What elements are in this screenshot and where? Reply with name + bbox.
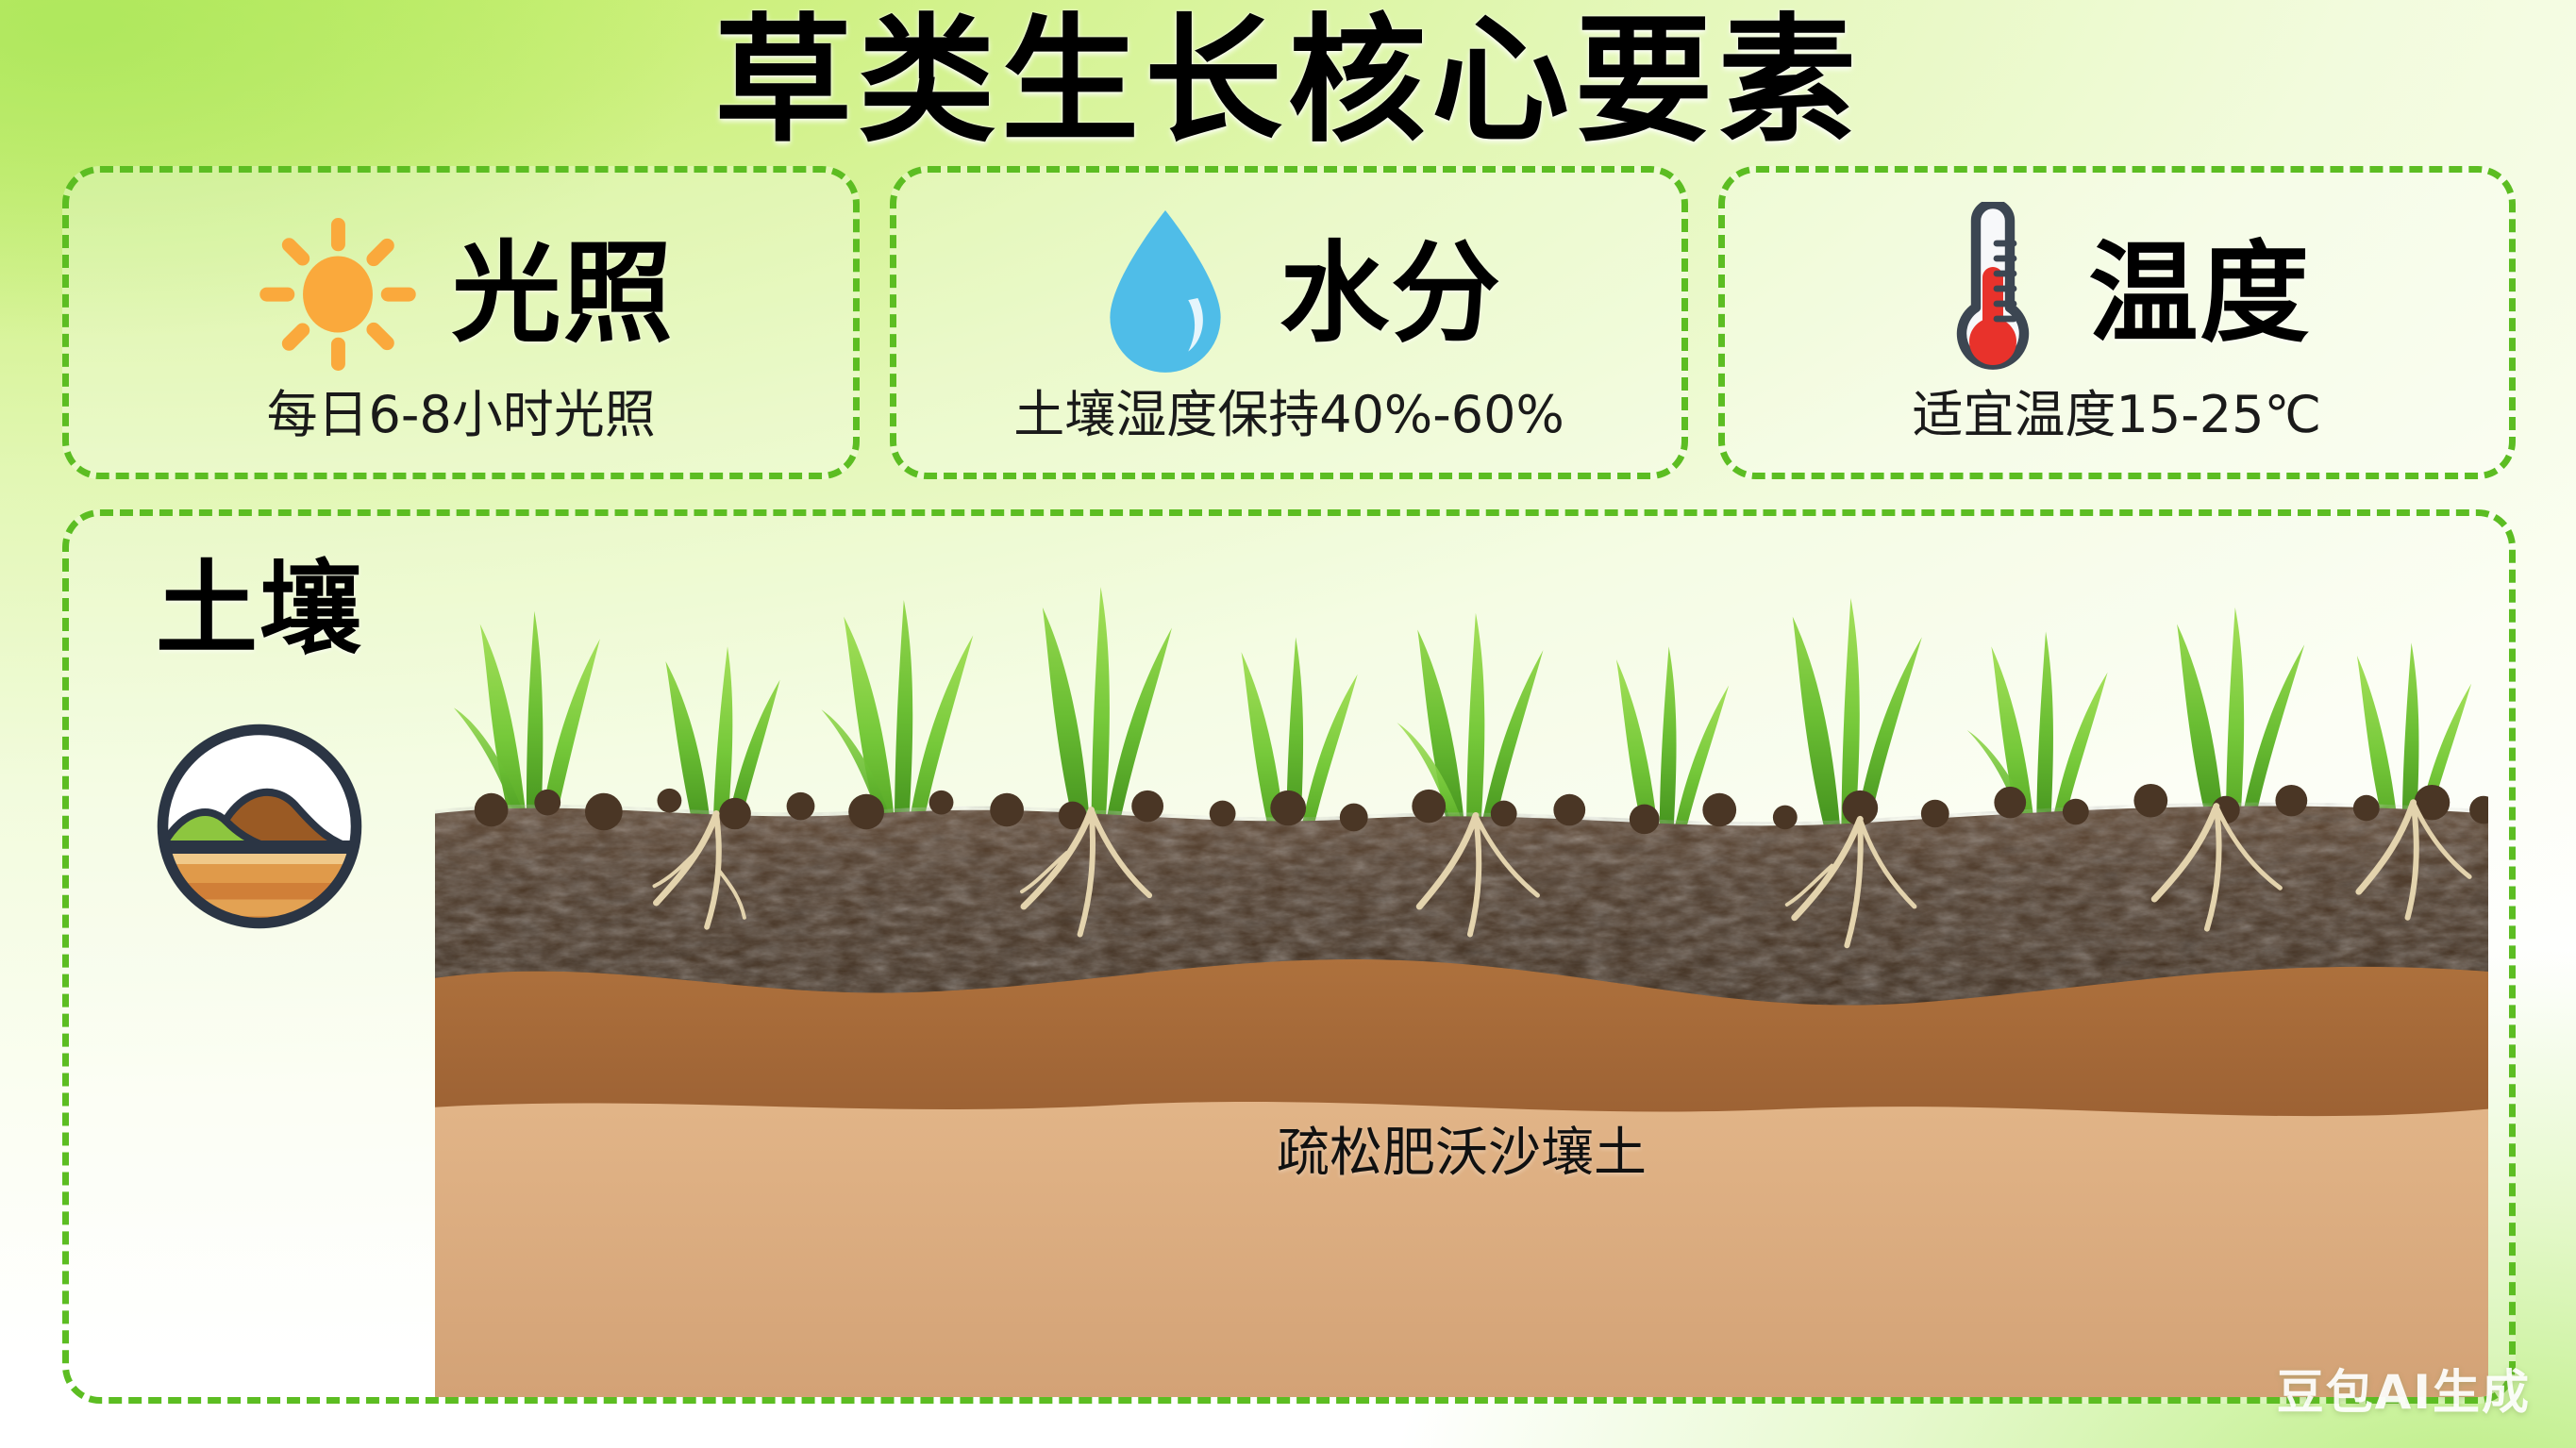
factor-card-row: 光照 每日6-8小时光照 水分 土壤湿度保持40%-60% [62,166,2516,479]
soil-layers-icon [142,708,377,949]
soil-caption: 疏松肥沃沙壤土 [435,1127,2488,1180]
thermometer-icon [1922,205,2064,384]
factor-card-header: 光照 [69,205,853,384]
soil-panel-left: 土壤 [90,527,429,1056]
factor-card-sunlight[interactable]: 光照 每日6-8小时光照 [62,166,860,479]
factor-card-water[interactable]: 水分 土壤湿度保持40%-60% [890,166,1687,479]
page-title: 草类生长核心要素 [0,6,2576,157]
factor-label-sunlight: 光照 [452,240,675,349]
soil-cross-section-illustration: 疏松肥沃沙壤土 [435,535,2488,1397]
factor-caption-water: 土壤湿度保持40%-60% [1013,390,1564,441]
soil-panel[interactable]: 土壤 [62,509,2516,1404]
factor-label-temperature: 温度 [2088,240,2311,349]
watermark: 豆包AI生成 [2277,1369,2531,1416]
factor-card-temperature[interactable]: 温度 适宜温度15-25℃ [1718,166,2516,479]
sun-icon [248,205,427,384]
factor-caption-temperature: 适宜温度15-25℃ [1913,390,2322,441]
factor-label-water: 水分 [1280,240,1502,349]
factor-card-header: 温度 [1725,205,2509,384]
factor-card-header: 水分 [896,205,1681,384]
soil-label: 土壤 [156,559,363,661]
water-drop-icon [1076,205,1255,384]
factor-caption-sunlight: 每日6-8小时光照 [267,390,656,441]
